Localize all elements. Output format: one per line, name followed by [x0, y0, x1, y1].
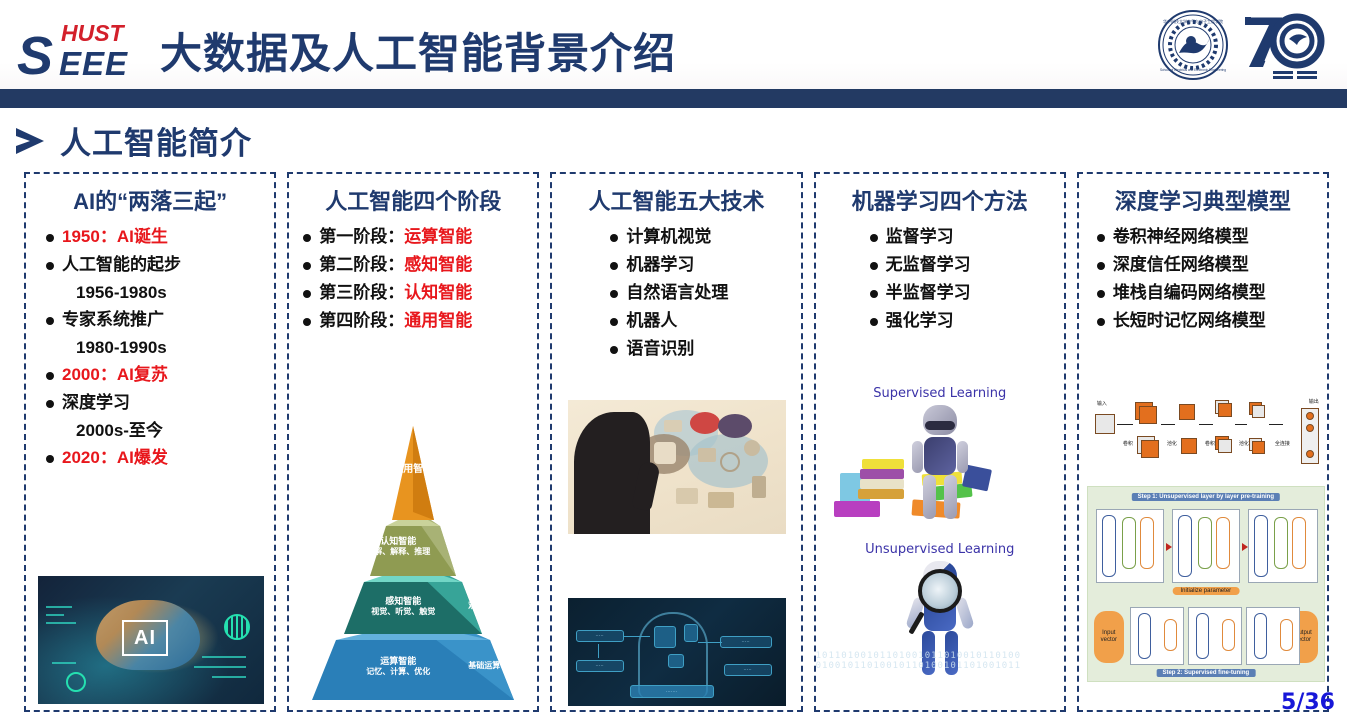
cnn-input-label: 输入 [1097, 400, 1107, 407]
section-heading: 人工智能简介 [14, 118, 252, 163]
bullet-dot-icon [303, 262, 311, 270]
list-item: 长短时记忆网络模型 [1097, 312, 1321, 329]
list-item: 2020：AI爆发 [46, 449, 268, 466]
ai-label: AI [122, 620, 168, 656]
column-ai-technologies: 人工智能五大技术 计算机视觉 机器学习 自然语言处理 机器人 语音识别 [550, 172, 802, 712]
list-item: 半监督学习 [870, 284, 1058, 301]
list-item: 监督学习 [870, 228, 1058, 245]
cnn-op-label: 池化 [1167, 440, 1177, 447]
supervised-learning-robot-image: Supervised Learning [816, 386, 1064, 529]
column-title: 人工智能四个阶段 [295, 184, 531, 216]
pyramid-layer-label: 通用智能 [304, 460, 522, 475]
bullet-dot-icon [1097, 262, 1105, 270]
list-item: 第三阶段：认知智能 [303, 284, 531, 301]
bullet-list: 第一阶段：运算智能 第二阶段：感知智能 第三阶段：认知智能 第四阶段：通用智能 [295, 228, 531, 329]
bullet-dot-icon [303, 318, 311, 326]
list-item-label: 2000s-至今 [76, 422, 163, 439]
bullet-dot-icon [303, 234, 311, 242]
list-item: 1956-1980s [46, 284, 268, 301]
bullet-list: 计算机视觉 机器学习 自然语言处理 机器人 语音识别 [558, 228, 794, 357]
svg-text:华中科技大学电气与电子工程学院: 华中科技大学电气与电子工程学院 [1163, 18, 1223, 24]
logo-text-eee: EEE [59, 47, 128, 80]
stage-label: 第二阶段： [319, 255, 404, 274]
list-item: 深度学习 [46, 394, 268, 411]
magnifier-icon [918, 569, 962, 613]
list-item-label: 卷积神经网络模型 [1113, 228, 1249, 245]
pyramid-side-label: 基础运算 [468, 660, 500, 671]
bullet-dot-icon [610, 346, 618, 354]
ai-brain-flow-diagram-image: ····· ····· ····· ····· ······· [568, 598, 786, 706]
bullet-dot-icon [46, 262, 54, 270]
list-item-label: 人工智能的起步 [62, 256, 181, 273]
stage-value: 通用智能 [404, 311, 472, 330]
thinking-person-silhouette-image [568, 400, 786, 534]
bullet-dot-icon [46, 372, 54, 380]
ai-capability-pyramid-diagram: 通用智能 认知智能 理解、解释、推理 感知智能 视觉、听觉、触觉 运算智能 记忆… [304, 408, 522, 708]
stage-value: 运算智能 [404, 227, 472, 246]
list-item-label: 无监督学习 [886, 256, 971, 273]
unsupervised-learning-robot-image: Unsupervised Learning 101101001011010010… [816, 542, 1064, 685]
list-item-label: 2000：AI复苏 [62, 366, 168, 383]
list-item-label: 机器学习 [626, 256, 694, 273]
slide-root: S HUST EEE 大数据及人工智能背景介绍 华中科技大学电气与电子工程学院 … [0, 0, 1347, 717]
bullet-dot-icon [870, 262, 878, 270]
list-item-label: 计算机视觉 [626, 228, 711, 245]
cnn-op-label: 全连接 [1275, 440, 1290, 447]
logo-text-hust: HUST [61, 22, 124, 45]
list-item: 强化学习 [870, 312, 1058, 329]
list-item-label: 1956-1980s [76, 284, 167, 301]
initialize-parameter-label: Initialize parameter [1172, 587, 1239, 595]
chevron-right-icon [14, 126, 48, 156]
page-title: 大数据及人工智能背景介绍 [160, 20, 676, 81]
list-item-label: 机器人 [626, 312, 677, 329]
list-item-label: 长短时记忆网络模型 [1113, 312, 1266, 329]
column-dl-models: 深度学习典型模型 卷积神经网络模型 深度信任网络模型 堆栈自编码网络模型 长短时… [1077, 172, 1329, 712]
list-item-label: 堆栈自编码网络模型 [1113, 284, 1266, 301]
unsupervised-learning-caption: Unsupervised Learning [816, 542, 1064, 557]
list-item-label: 语音识别 [626, 340, 694, 357]
list-item: 第四阶段：通用智能 [303, 312, 531, 329]
list-item-label: 2020：AI爆发 [62, 449, 168, 466]
list-item: 第二阶段：感知智能 [303, 256, 531, 273]
bullet-dot-icon [610, 290, 618, 298]
list-item: 1980-1990s [46, 339, 268, 356]
stage-label: 第四阶段： [319, 311, 404, 330]
content-columns: AI的“两落三起” 1950：AI诞生 人工智能的起步 1956-1980s 专… [24, 172, 1329, 712]
bullet-dot-icon [870, 290, 878, 298]
bullet-dot-icon [610, 234, 618, 242]
header-divider-bar [0, 89, 1347, 108]
list-item: 语音识别 [610, 340, 794, 357]
person-neck [574, 500, 636, 534]
step1-label: Step 1: Unsupervised layer by layer pre-… [1132, 493, 1280, 501]
bullet-dot-icon [1097, 318, 1105, 326]
bullet-dot-icon [46, 400, 54, 408]
list-item-label: 专家系统推广 [62, 311, 164, 328]
section-heading-label: 人工智能简介 [60, 118, 252, 163]
list-item: 2000：AI复苏 [46, 366, 268, 383]
face-recognition-icon [654, 626, 676, 648]
bullet-list: 1950：AI诞生 人工智能的起步 1956-1980s 专家系统推广 1980… [32, 228, 268, 466]
column-title: AI的“两落三起” [32, 184, 268, 216]
bullet-dot-icon [46, 234, 54, 242]
bullet-dot-icon [610, 318, 618, 326]
bullet-list: 监督学习 无监督学习 半监督学习 强化学习 [822, 228, 1058, 329]
hud-circle-icon [224, 614, 250, 640]
bullet-dot-icon [46, 455, 54, 463]
stage-value: 认知智能 [404, 283, 472, 302]
robot-books-scene [816, 401, 1064, 529]
bullet-dot-icon [870, 234, 878, 242]
robot-magnifier-scene: 1011010010110100101101001011010001001011… [816, 557, 1064, 685]
input-vector-label: Input vector [1094, 611, 1124, 663]
page-number: 5/36 [1281, 690, 1335, 715]
pyramid-side-label: 观察万物 [468, 600, 500, 611]
column-ai-stages: 人工智能四个阶段 第一阶段：运算智能 第二阶段：感知智能 第三阶段：认知智能 第… [287, 172, 539, 712]
list-item: 机器学习 [610, 256, 794, 273]
robot-figure [912, 405, 968, 523]
list-item-label: 强化学习 [886, 312, 954, 329]
list-item: 专家系统推广 [46, 311, 268, 328]
school-seal-icon: 华中科技大学电气与电子工程学院 School of Electrical and… [1157, 9, 1229, 81]
list-item: 卷积神经网络模型 [1097, 228, 1321, 245]
bullet-dot-icon [610, 262, 618, 270]
bullet-dot-icon [1097, 234, 1105, 242]
list-item: 人工智能的起步 [46, 256, 268, 273]
list-item-label: 深度信任网络模型 [1113, 256, 1249, 273]
list-item: 深度信任网络模型 [1097, 256, 1321, 273]
column-ai-history: AI的“两落三起” 1950：AI诞生 人工智能的起步 1956-1980s 专… [24, 172, 276, 712]
list-item: 自然语言处理 [610, 284, 794, 301]
cnn-output-label: 输出 [1309, 398, 1319, 405]
pyramid-layer-sub: 记忆、计算、优化 [304, 666, 492, 677]
bullet-dot-icon [46, 317, 54, 325]
list-item: 1950：AI诞生 [46, 228, 268, 245]
cnn-op-label: 卷积 [1123, 440, 1133, 447]
list-item-label: 1950：AI诞生 [62, 228, 168, 245]
supervised-learning-caption: Supervised Learning [816, 386, 1064, 401]
bullet-list: 卷积神经网络模型 深度信任网络模型 堆栈自编码网络模型 长短时记忆网络模型 [1085, 228, 1321, 329]
layers-icon [668, 654, 684, 668]
deep-network-pretraining-diagram: Step 1: Unsupervised layer by layer pre-… [1087, 486, 1325, 682]
list-item: 堆栈自编码网络模型 [1097, 284, 1321, 301]
list-item: 第一阶段：运算智能 [303, 228, 531, 245]
document-icon [684, 624, 698, 642]
column-ml-methods: 机器学习四个方法 监督学习 无监督学习 半监督学习 强化学习 Supervise… [814, 172, 1066, 712]
slide-header: S HUST EEE 大数据及人工智能背景介绍 华中科技大学电气与电子工程学院 … [0, 0, 1347, 89]
cnn-op-label: 卷积 [1205, 440, 1215, 447]
seee-hust-logo: S HUST EEE [17, 21, 152, 79]
list-item-label: 深度学习 [62, 394, 130, 411]
bullet-dot-icon [1097, 290, 1105, 298]
stage-value: 感知智能 [404, 255, 472, 274]
hud-circle-icon [66, 672, 86, 692]
list-item-label: 1980-1990s [76, 339, 167, 356]
pyramid-side-label: 理解力智能 [497, 548, 508, 588]
logo-letter-s: S [17, 29, 51, 83]
column-title: 机器学习四个方法 [822, 184, 1058, 216]
bullet-dot-icon [303, 290, 311, 298]
list-item: 机器人 [610, 312, 794, 329]
ai-brain-hologram-image: AI [38, 576, 264, 704]
list-item-label: 半监督学习 [886, 284, 971, 301]
list-item-label: 监督学习 [886, 228, 954, 245]
list-item: 计算机视觉 [610, 228, 794, 245]
binary-digits-background: 1011010010110100101101001011010001001011… [816, 651, 1064, 685]
list-item: 2000s-至今 [46, 422, 268, 439]
list-item-label: 自然语言处理 [626, 284, 728, 301]
list-item: 无监督学习 [870, 256, 1058, 273]
cnn-architecture-diagram: 输入 输出 [1089, 392, 1323, 484]
svg-text:School of Electrical and Elect: School of Electrical and Electronic Engi… [1160, 68, 1226, 72]
bullet-dot-icon [870, 318, 878, 326]
stage-label: 第一阶段： [319, 227, 404, 246]
cnn-op-label: 池化 [1239, 440, 1249, 447]
stage-label: 第三阶段： [319, 283, 404, 302]
column-title: 深度学习典型模型 [1085, 184, 1321, 216]
step2-label: Step 2: Supervised fine-tuning [1156, 669, 1255, 677]
pyramid-layer-sub: 理解、解释、推理 [304, 546, 492, 557]
column-title: 人工智能五大技术 [558, 184, 794, 216]
anniversary-70-icon [1239, 9, 1325, 83]
